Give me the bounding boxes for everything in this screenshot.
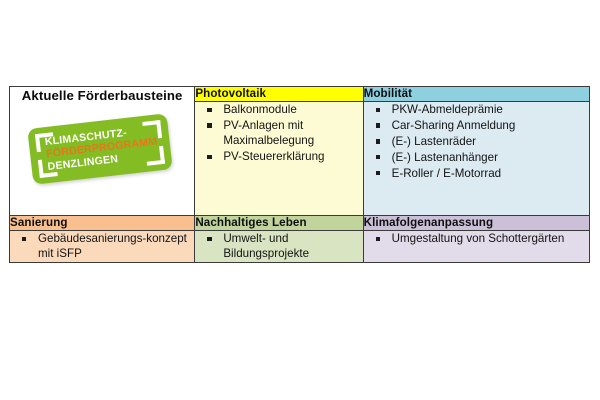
list-item: Umwelt- und Bildungsprojekte — [205, 231, 362, 262]
table-header-row-2: Sanierung Nachhaltiges Leben Klimafolgen… — [10, 216, 590, 231]
category-header-nachhaltiges-leben: Nachhaltiges Leben — [195, 216, 363, 231]
category-header-photovoltaik: Photovoltaik — [195, 87, 363, 102]
list-sanierung: Gebäudesanierungs-konzept mit iSFP — [10, 231, 194, 262]
table-header-row-1: Aktuelle Förderbausteine KLIMASCHUTZ- FÖ… — [10, 87, 590, 102]
page-title: Aktuelle Förderbausteine — [10, 87, 194, 103]
list-item: E-Roller / E-Motorrad — [374, 166, 589, 181]
title-cell-inner: Aktuelle Förderbausteine KLIMASCHUTZ- FÖ… — [10, 87, 194, 215]
list-item: PKW-Abmeldeprämie — [374, 102, 589, 117]
list-item: Gebäudesanierungs-konzept mit iSFP — [20, 231, 194, 262]
list-klimafolgenanpassung: Umgestaltung von Schottergärten — [364, 231, 589, 246]
list-item: PV-Steuererklärung — [205, 149, 362, 164]
list-item: Car-Sharing Anmeldung — [374, 118, 589, 133]
category-header-mobilitaet: Mobilität — [363, 87, 589, 102]
category-header-klimafolgenanpassung: Klimafolgenanpassung — [363, 216, 589, 231]
list-nachhaltiges-leben: Umwelt- und Bildungsprojekte — [195, 231, 362, 262]
logo-badge: KLIMASCHUTZ- FÖRDERPROGRAMM DENZLINGEN — [27, 113, 172, 184]
title-and-logo-cell: Aktuelle Förderbausteine KLIMASCHUTZ- FÖ… — [10, 87, 195, 216]
list-item: PV-Anlagen mit Maximalbelegung — [205, 118, 362, 149]
logo-text: KLIMASCHUTZ- FÖRDERPROGRAMM DENZLINGEN — [44, 124, 159, 174]
category-body-nachhaltiges-leben: Umwelt- und Bildungsprojekte — [195, 231, 363, 263]
list-item: Balkonmodule — [205, 102, 362, 117]
foerderbausteine-table: Aktuelle Förderbausteine KLIMASCHUTZ- FÖ… — [9, 86, 590, 263]
list-item: Umgestaltung von Schottergärten — [374, 231, 589, 246]
category-body-sanierung: Gebäudesanierungs-konzept mit iSFP — [10, 231, 195, 263]
list-mobilitaet: PKW-Abmeldeprämie Car-Sharing Anmeldung … — [364, 102, 589, 181]
list-item: (E-) Lastenräder — [374, 134, 589, 149]
list-photovoltaik: Balkonmodule PV-Anlagen mit Maximalbeleg… — [195, 102, 362, 165]
logo-container: KLIMASCHUTZ- FÖRDERPROGRAMM DENZLINGEN — [24, 115, 180, 187]
list-item: (E-) Lastenanhänger — [374, 150, 589, 165]
table-body-row-2: Gebäudesanierungs-konzept mit iSFP Umwel… — [10, 231, 590, 263]
category-body-klimafolgenanpassung: Umgestaltung von Schottergärten — [363, 231, 589, 263]
category-body-photovoltaik: Balkonmodule PV-Anlagen mit Maximalbeleg… — [195, 102, 363, 216]
screenshot-canvas: Aktuelle Förderbausteine KLIMASCHUTZ- FÖ… — [0, 0, 600, 400]
category-body-mobilitaet: PKW-Abmeldeprämie Car-Sharing Anmeldung … — [363, 102, 589, 216]
category-header-sanierung: Sanierung — [10, 216, 195, 231]
